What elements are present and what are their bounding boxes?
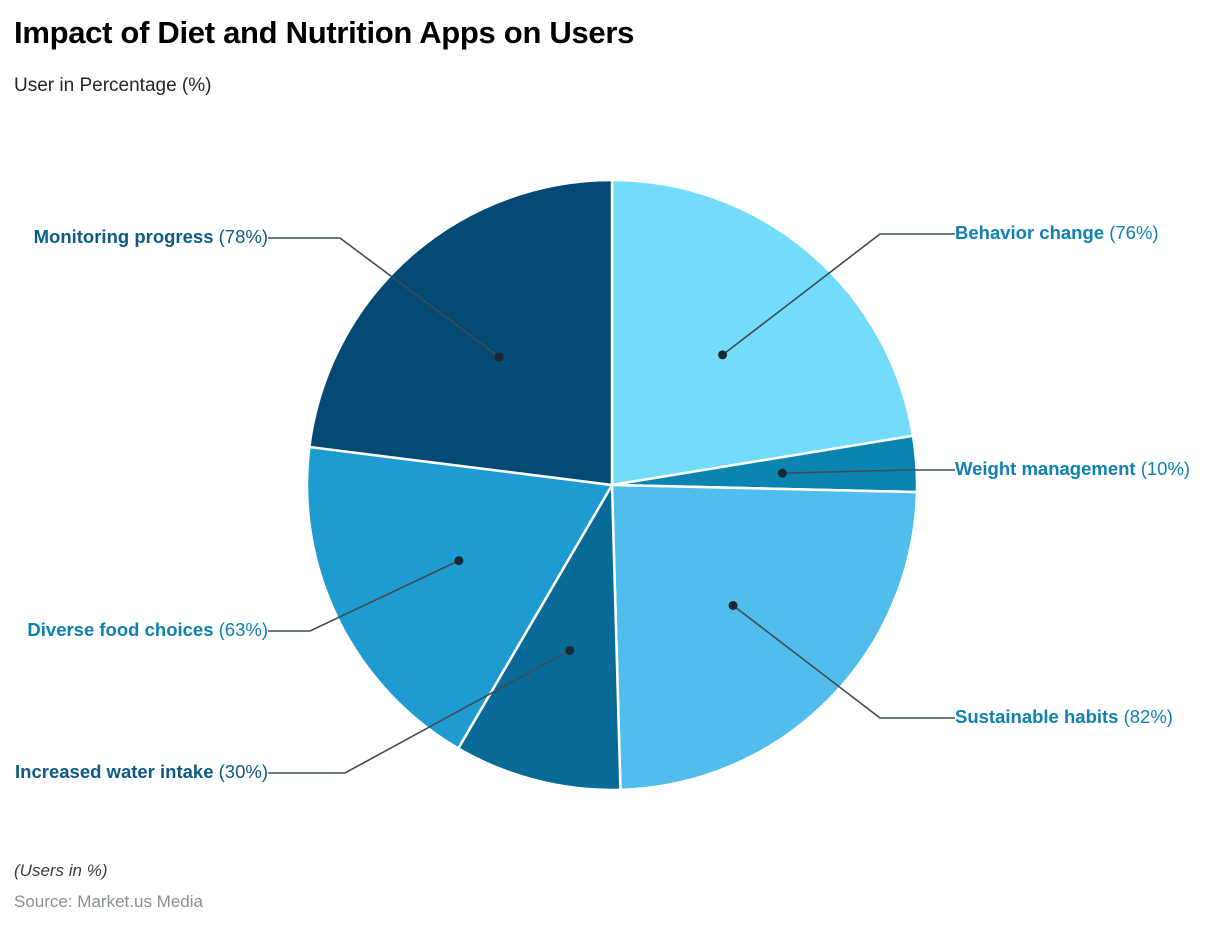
pie-slice[interactable] <box>612 180 913 485</box>
pie-slice-label-name: Behavior change <box>955 222 1104 243</box>
pie-slice-group <box>307 180 917 790</box>
pie-slice-label-name: Sustainable habits <box>955 706 1118 727</box>
footer-source: Source: Market.us Media <box>14 890 614 914</box>
pie-slice-label[interactable]: Sustainable habits (82%) <box>955 704 1173 730</box>
pie-slice-label-value: (30%) <box>214 761 269 782</box>
pie-slice-label-value: (63%) <box>214 619 269 640</box>
slice-anchor-dot <box>565 646 574 655</box>
pie-slice-label-name: Diverse food choices <box>27 619 213 640</box>
pie-slice-label-value: (78%) <box>214 226 269 247</box>
pie-slice-label-value: (10%) <box>1136 458 1191 479</box>
pie-slice[interactable] <box>309 180 612 485</box>
slice-anchor-dot <box>718 350 727 359</box>
slice-anchor-dot <box>729 601 738 610</box>
pie-chart-plot-area: Behavior change (76%)Weight management (… <box>0 0 1220 928</box>
pie-slice-label-name: Monitoring progress <box>34 226 214 247</box>
chart-page: Impact of Diet and Nutrition Apps on Use… <box>0 0 1220 928</box>
pie-slice[interactable] <box>612 485 917 790</box>
pie-slice-label[interactable]: Diverse food choices (63%) <box>27 617 268 643</box>
footer-note: (Users in %) <box>14 859 614 883</box>
chart-footer: (Users in %) Source: Market.us Media <box>14 859 614 914</box>
pie-slice-label[interactable]: Behavior change (76%) <box>955 220 1159 246</box>
pie-slice-label-name: Increased water intake <box>15 761 213 782</box>
pie-slice-label[interactable]: Increased water intake (30%) <box>15 759 268 785</box>
slice-anchor-dot <box>495 352 504 361</box>
slice-anchor-dot <box>454 556 463 565</box>
pie-slice-label-value: (82%) <box>1118 706 1173 727</box>
slice-anchor-dot <box>778 469 787 478</box>
pie-slice-label[interactable]: Weight management (10%) <box>955 456 1190 482</box>
pie-slice-label-name: Weight management <box>955 458 1136 479</box>
pie-slice-label-value: (76%) <box>1104 222 1159 243</box>
pie-slice-label[interactable]: Monitoring progress (78%) <box>34 224 268 250</box>
